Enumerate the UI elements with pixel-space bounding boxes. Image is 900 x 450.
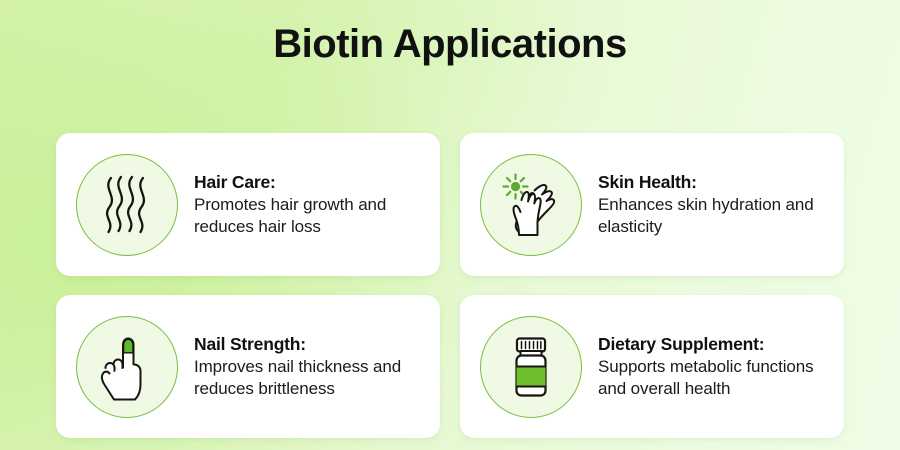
card-description: Supports metabolic functions and overall… <box>598 356 828 400</box>
card-text-nail-strength: Nail Strength: Improves nail thickness a… <box>194 333 424 401</box>
card-text-skin-health: Skin Health: Enhances skin hydration and… <box>598 171 828 239</box>
page-title: Biotin Applications <box>0 22 900 66</box>
card-text-hair-care: Hair Care: Promotes hair growth and redu… <box>194 171 424 239</box>
card-description: Enhances skin hydration and elasticity <box>598 194 828 238</box>
hands-sun-icon <box>480 154 582 256</box>
applications-grid: Hair Care: Promotes hair growth and redu… <box>56 133 844 438</box>
infographic-root: Biotin Applications Hair Care: Promotes … <box>0 0 900 450</box>
card-description: Improves nail thickness and reduces brit… <box>194 356 424 400</box>
card-text-dietary-supplement: Dietary Supplement: Supports metabolic f… <box>598 333 828 401</box>
card-heading: Nail Strength: <box>194 333 424 355</box>
hand-nail-icon <box>76 316 178 418</box>
card-heading: Hair Care: <box>194 171 424 193</box>
card-skin-health: Skin Health: Enhances skin hydration and… <box>460 133 844 276</box>
hair-strands-icon <box>76 154 178 256</box>
card-heading: Dietary Supplement: <box>598 333 828 355</box>
card-nail-strength: Nail Strength: Improves nail thickness a… <box>56 295 440 438</box>
card-description: Promotes hair growth and reduces hair lo… <box>194 194 424 238</box>
supplement-bottle-icon <box>480 316 582 418</box>
card-hair-care: Hair Care: Promotes hair growth and redu… <box>56 133 440 276</box>
card-dietary-supplement: Dietary Supplement: Supports metabolic f… <box>460 295 844 438</box>
title-container: Biotin Applications <box>0 22 900 66</box>
card-heading: Skin Health: <box>598 171 828 193</box>
